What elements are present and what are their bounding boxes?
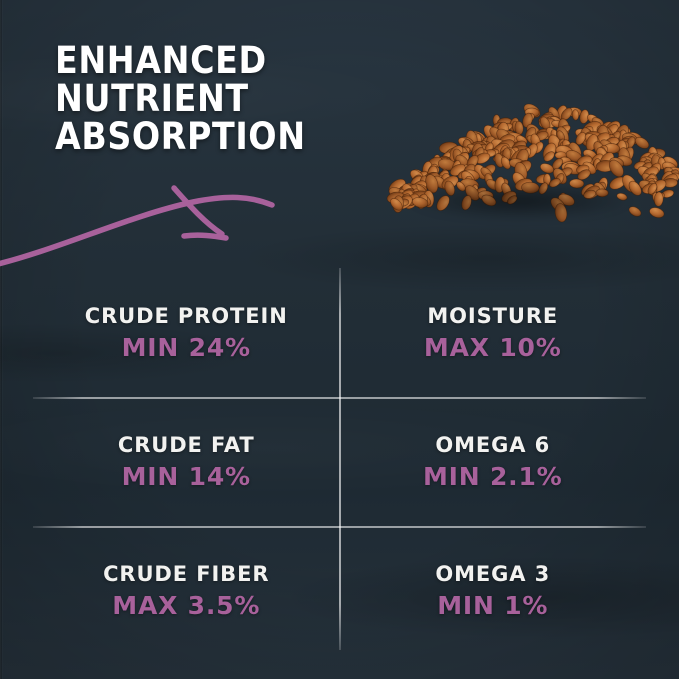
kibble-pile-image [355, 62, 679, 242]
nutrient-label: CRUDE PROTEIN [85, 304, 288, 328]
nutrition-cell-omega-3: OMEGA 3 MIN 1% [340, 527, 647, 656]
nutrient-value: MIN 24% [122, 333, 251, 362]
nutrition-cell-crude-fiber: CRUDE FIBER MAX 3.5% [33, 527, 340, 656]
nutrition-cell-crude-protein: CRUDE PROTEIN MIN 24% [33, 268, 340, 397]
nutrition-cell-moisture: MOISTURE MAX 10% [340, 268, 647, 397]
nutrient-label: OMEGA 3 [435, 562, 550, 586]
nutrient-label: CRUDE FIBER [103, 562, 269, 586]
nutrition-cell-crude-fat: CRUDE FAT MIN 14% [33, 397, 340, 526]
curved-arrow-icon [0, 160, 278, 270]
page-title: ENHANCED NUTRIENT ABSORPTION [55, 42, 306, 156]
table-divider-horizontal-1 [33, 397, 646, 399]
nutrient-value: MAX 10% [424, 333, 562, 362]
kibble-shadow [365, 174, 675, 228]
nutrient-label: MOISTURE [427, 304, 558, 328]
nutrient-value: MAX 3.5% [112, 591, 260, 620]
nutrient-value: MIN 2.1% [423, 462, 563, 491]
product-infographic: ENHANCED NUTRIENT ABSORPTION CRUDE PROTE… [0, 0, 679, 679]
nutrition-cell-omega-6: OMEGA 6 MIN 2.1% [340, 397, 647, 526]
nutrient-label: CRUDE FAT [118, 433, 255, 457]
table-divider-horizontal-2 [33, 526, 646, 528]
nutrient-label: OMEGA 6 [435, 433, 550, 457]
table-divider-vertical [339, 268, 341, 650]
nutrient-value: MIN 14% [122, 462, 251, 491]
nutrient-value: MIN 1% [437, 591, 548, 620]
